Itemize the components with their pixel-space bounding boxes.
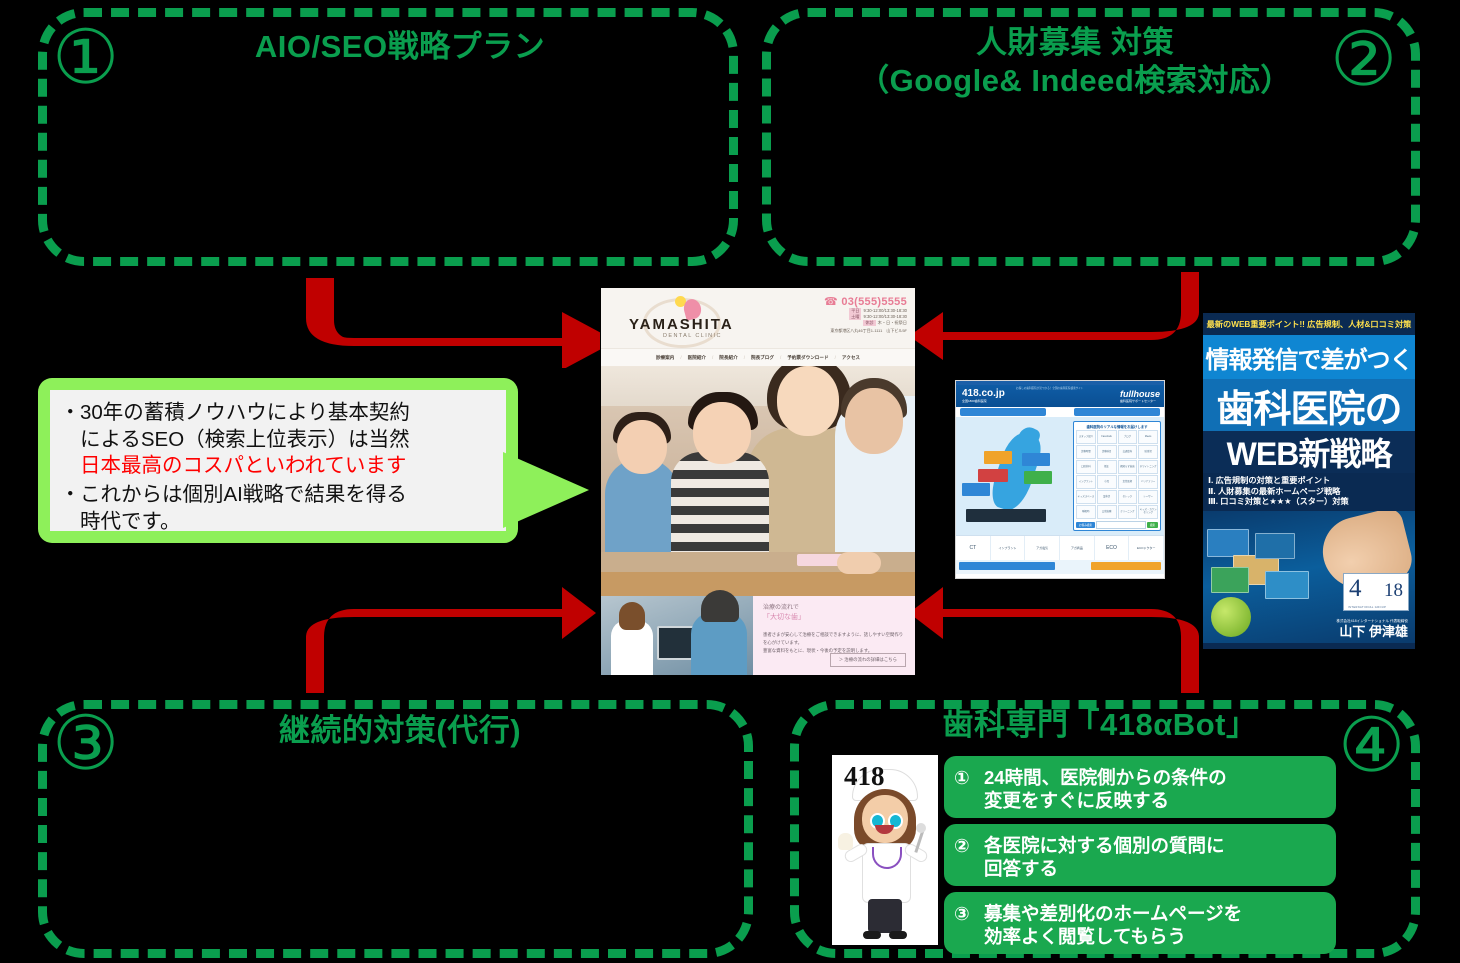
pink-panel-body: 患者さまが安心して治療をご相談できますように、話しやすい空間作りを心がけています… xyxy=(763,631,907,656)
callout-bubble: 30年の蓄積ノウハウにより基本契約 によるSEO（検索上位表示）は当然 日本最高… xyxy=(38,378,518,543)
clinic-hero-photo xyxy=(601,366,915,552)
category-cell[interactable]: セレック xyxy=(1118,490,1138,504)
book-title-line-1: 情報発信で差がつく xyxy=(1203,335,1415,379)
category-cell[interactable]: 口腔外科 xyxy=(1076,460,1096,474)
map-chip-4[interactable] xyxy=(1024,471,1052,484)
shoe-right-icon xyxy=(889,931,907,939)
clinic-nav-item-0[interactable]: 診療案内 xyxy=(656,355,674,361)
map-chip-6[interactable] xyxy=(966,509,1046,522)
banner-item[interactable]: CT xyxy=(956,536,991,560)
category-cell[interactable]: インプラント xyxy=(1076,475,1096,489)
panel-4-number: ④ xyxy=(1338,708,1405,783)
nav-sep: / xyxy=(835,355,836,360)
hero-child-2-figure xyxy=(671,452,769,552)
bot-feature-2-number: ② xyxy=(954,834,984,876)
nav-sep: / xyxy=(680,355,681,360)
logo-digit-18: 18 xyxy=(1384,580,1403,602)
category-cell[interactable]: クリーニング xyxy=(1118,505,1138,519)
book-418-logo: 4 18 INTERNATIONAL GROUP xyxy=(1343,573,1409,611)
site-418-tab-right[interactable] xyxy=(1074,408,1160,416)
hero-child-1-figure xyxy=(605,458,679,552)
book-cover-image: 4 18 INTERNATIONAL GROUP 株式会社418インターナショナ… xyxy=(1203,511,1415,643)
clinic-midsection-photo xyxy=(601,552,915,596)
nav-sep: / xyxy=(712,355,713,360)
site-418-banner-strip[interactable]: CT インプラント アガ電気 アガ商品 ECO ECOドクター xyxy=(956,535,1164,560)
banner-item[interactable]: インプラント xyxy=(991,536,1026,560)
callout-bubble-inner: 30年の蓄積ノウハウにより基本契約 によるSEO（検索上位表示）は当然 日本最高… xyxy=(50,390,506,531)
category-cell[interactable]: キッズスペース xyxy=(1076,490,1096,504)
search-input[interactable] xyxy=(1096,521,1146,529)
tooth-icon xyxy=(838,833,853,850)
nav-sep: / xyxy=(780,355,781,360)
japan-map-icon[interactable] xyxy=(960,421,1068,531)
footer-left-banner[interactable] xyxy=(959,562,1055,570)
bot-feature-1[interactable]: ① 24時間、医院側からの条件の 変更をすぐに反映する xyxy=(944,756,1336,818)
arrow-top-left-icon xyxy=(300,278,600,373)
book-points: Ⅰ. 広告規制の対策と重要ポイント Ⅱ. 人財募集の最新ホームページ戦略 Ⅲ. … xyxy=(1203,473,1415,511)
clinic-nav[interactable]: 診療案内/ 医院紹介/ 院長紹介/ 院長ブログ/ 予約票ダウンロード/ アクセス xyxy=(601,348,915,366)
map-chip-1[interactable] xyxy=(984,451,1012,464)
category-cell[interactable]: 診療科目 xyxy=(1097,445,1117,459)
hand-shape xyxy=(837,552,881,574)
banner-item[interactable]: アガ電気 xyxy=(1025,536,1060,560)
pink-panel-title-1: 治療の流れで xyxy=(763,604,907,613)
site-418-category-grid[interactable]: スタッフ紹介 Facebook ブログ Meets 診療時間 診療科目 交通案内… xyxy=(1076,430,1158,519)
footer-right-banner[interactable] xyxy=(1091,562,1161,570)
category-cell[interactable]: 交通案内 xyxy=(1118,445,1138,459)
clinic-address: 東京都港区八丸46丁目1-1111 山下ビル5F xyxy=(824,328,907,334)
clinic-nav-item-3[interactable]: 院長ブログ xyxy=(751,355,774,361)
clinic-logo: YAMASHITA DENTAL CLINIC xyxy=(629,296,745,344)
book-point-1: Ⅰ. 広告規制の対策と重要ポイント xyxy=(1208,476,1410,487)
consultation-photo xyxy=(601,596,753,675)
pink-panel-title-2: 「大切な歯」 xyxy=(763,613,907,624)
clinic-nav-item-1[interactable]: 医院紹介 xyxy=(688,355,706,361)
clinic-pink-panel: 治療の流れで 「大切な歯」 患者さまが安心して治療をご相談できますように、話しや… xyxy=(753,596,915,675)
category-cell[interactable]: 小児 xyxy=(1097,475,1117,489)
bot-feature-1-number: ① xyxy=(954,766,984,808)
legs-shape xyxy=(868,899,902,933)
bot-feature-1-text: 24時間、医院側からの条件の 変更をすぐに反映する xyxy=(984,766,1324,808)
callout-bubble-tail xyxy=(503,452,589,528)
bot-character-image: 418 xyxy=(832,755,938,945)
book-banner: 最新のWEB重要ポイント!! 広告規制、人材&口コミ対策 xyxy=(1203,313,1415,335)
clinic-contact-block: ☎ 03(555)5555 平日9:30-12:00/13:30-18:30 土… xyxy=(824,295,907,334)
category-cell[interactable]: 診療時間 xyxy=(1076,445,1096,459)
site-418-panel-title: 歯科医院のリアルな情報をお届けします xyxy=(1076,424,1158,429)
book-point-2: Ⅱ. 人財募集の最新ホームページ戦略 xyxy=(1208,487,1410,498)
clinic-header: YAMASHITA DENTAL CLINIC ☎ 03(555)5555 平日… xyxy=(601,288,915,348)
book-title-line-2: 歯科医院の xyxy=(1203,379,1415,431)
site-418-brand-sub: 全国1800歯科医院 xyxy=(962,399,1005,403)
category-cell[interactable]: 女性医師 xyxy=(1118,475,1138,489)
panel-3-title: 継続的対策(代行) xyxy=(160,712,640,750)
callout-b1-line1: 30年の蓄積ノウハウにより基本契約 xyxy=(80,401,410,424)
apple-icon xyxy=(1211,597,1251,637)
shoe-left-icon xyxy=(863,931,881,939)
site-418-brand: 418.co.jp 全国1800歯科医院 xyxy=(962,388,1005,403)
category-cell[interactable]: 矯正 xyxy=(1097,460,1117,474)
map-chip-5[interactable] xyxy=(962,483,990,496)
category-cell[interactable]: レーザー xyxy=(1138,490,1158,504)
book-author: 山下 伊津雄 xyxy=(1339,621,1408,640)
site-418-body: 歯科医院のリアルな情報をお届けします スタッフ紹介 Facebook ブログ M… xyxy=(956,417,1164,535)
site-418-tabs[interactable] xyxy=(956,407,1164,417)
panel-3-number: ③ xyxy=(52,706,119,781)
clinic-hours-row-3: 休診木・日・祝祭日 xyxy=(824,320,907,326)
category-cell[interactable]: スタッフ紹介 xyxy=(1076,430,1096,444)
clinic-bottom-section: 治療の流れで 「大切な歯」 患者さまが安心して治療をご相談できますように、話しや… xyxy=(601,596,915,675)
site-418-partner-sub: 歯科医院サポートセンター xyxy=(1120,399,1160,403)
category-cell[interactable]: Facebook xyxy=(1097,430,1117,444)
logo-digit-4: 4 xyxy=(1349,575,1362,603)
callout-b2-line2: 時代です。 xyxy=(80,510,180,533)
panel-1-number: ① xyxy=(52,20,119,95)
clinic-logo-name: YAMASHITA xyxy=(629,316,734,333)
callout-b1-line3-highlight: 日本最高のコスパといわれています xyxy=(80,454,406,477)
callout-b2-line1: これからは個別AI戦略で結果を得る xyxy=(80,483,407,506)
patient-figure xyxy=(691,612,747,675)
site-418-partner: fullhouse 歯科医院サポートセンター xyxy=(1120,389,1160,403)
site-418-header: お探しの歯科医院が見つかる！全国の歯科医院検索サイト 418.co.jp 全国1… xyxy=(956,385,1164,407)
category-cell[interactable]: ブログ xyxy=(1118,430,1138,444)
panel-2-title: 人財募集 対策 （Google& Indeed検索対応） xyxy=(810,24,1340,100)
callout-bullet-2: これからは個別AI戦略で結果を得る 時代です。 xyxy=(80,482,496,535)
map-chip-3[interactable] xyxy=(978,469,1008,482)
clinic-website-screenshot[interactable]: YAMASHITA DENTAL CLINIC ☎ 03(555)5555 平日… xyxy=(601,288,915,675)
bot-feature-2-text: 各医院に対する個別の質問に 回答する xyxy=(984,834,1324,876)
site-418-tagline: お探しの歯科医院が見つかる！全国の歯科医院検索サイト xyxy=(1016,386,1083,390)
phone-icon: ☎ xyxy=(824,296,838,308)
screen-tile xyxy=(1255,533,1295,559)
hero-dentist-figure xyxy=(835,396,915,552)
category-cell[interactable]: キッズ・カウンセリング xyxy=(1138,505,1158,519)
category-cell[interactable]: 親知らず抜歯 xyxy=(1118,460,1138,474)
clinic-nav-item-5[interactable]: アクセス xyxy=(842,355,860,361)
site-418-tab-left[interactable] xyxy=(960,408,1046,416)
arrow-bottom-right-icon xyxy=(905,565,1205,700)
category-cell[interactable]: 駐車場 xyxy=(1138,445,1158,459)
pink-panel-button[interactable]: ＞ 治療の流れの詳細はこちら xyxy=(830,653,906,667)
panel-4-title: 歯科専門「418αBot」 xyxy=(880,706,1320,744)
bot-feature-3[interactable]: ③ 募集や差別化のホームページを 効率よく閲覧してもらう xyxy=(944,892,1336,954)
category-cell[interactable]: バリアフリー xyxy=(1138,475,1158,489)
callout-bullet-1: 30年の蓄積ノウハウにより基本契約 によるSEO（検索上位表示）は当然 日本最高… xyxy=(80,400,496,480)
banner-item[interactable]: アガ商品 xyxy=(1060,536,1095,560)
clinic-nav-item-4[interactable]: 予約票ダウンロード xyxy=(787,355,828,361)
banner-item[interactable]: ECOドクター xyxy=(1129,536,1164,560)
hygienist-figure xyxy=(611,620,653,675)
bot-feature-2[interactable]: ② 各医院に対する個別の質問に 回答する xyxy=(944,824,1336,886)
bot-character-label: 418 xyxy=(844,761,885,792)
screen-tile xyxy=(1207,529,1249,557)
arrow-top-right-icon xyxy=(905,272,1205,377)
dental-mirror-head-icon xyxy=(916,823,926,833)
book-point-3: Ⅲ. 口コミ対策と★★★（スター）対策 xyxy=(1208,497,1410,508)
category-cell[interactable]: 睡眠時 xyxy=(1076,505,1096,519)
site-418-footer xyxy=(956,560,1164,574)
category-cell[interactable]: Meets xyxy=(1138,430,1158,444)
clinic-phone: ☎ 03(555)5555 xyxy=(824,295,907,308)
screen-tile xyxy=(1265,571,1309,599)
site-418-search-row[interactable]: お悩み検索 検索 xyxy=(1076,521,1158,529)
logo-caption: INTERNATIONAL GROUP xyxy=(1348,606,1386,609)
callout-bullet-list: 30年の蓄積ノウハウにより基本契約 によるSEO（検索上位表示）は当然 日本最高… xyxy=(50,390,506,535)
banner-item[interactable]: ECO xyxy=(1095,536,1130,560)
search-label: お悩み検索 xyxy=(1076,522,1095,528)
arrow-bottom-left-icon xyxy=(300,565,600,700)
panel-2-number: ② xyxy=(1330,22,1397,97)
category-cell[interactable]: ホワイトニング xyxy=(1138,460,1158,474)
category-cell[interactable]: 口臭治療 xyxy=(1097,505,1117,519)
book-title-line-3: WEB新戦略 xyxy=(1203,431,1415,473)
screen-tile xyxy=(1211,567,1249,593)
nav-sep: / xyxy=(744,355,745,360)
site-418-category-panel: 歯科医院のリアルな情報をお届けします スタッフ紹介 Facebook ブログ M… xyxy=(1073,421,1161,531)
clinic-logo-sub: DENTAL CLINIC xyxy=(663,333,722,339)
category-cell[interactable]: 톨休診 xyxy=(1097,490,1117,504)
callout-b1-line2: によるSEO（検索上位表示）は当然 xyxy=(80,428,410,451)
site-418-screenshot[interactable]: お探しの歯科医院が見つかる！全国の歯科医院検索サイト 418.co.jp 全国1… xyxy=(955,380,1165,579)
panel-1-title: AIO/SEO戦略プラン xyxy=(150,28,650,66)
clinic-nav-item-2[interactable]: 院長紹介 xyxy=(719,355,737,361)
search-button[interactable]: 検索 xyxy=(1147,522,1158,528)
desk-shape xyxy=(601,572,915,596)
bot-feature-3-number: ③ xyxy=(954,902,984,944)
book-cover: 最新のWEB重要ポイント!! 広告規制、人材&口コミ対策 情報発信で差がつく 歯… xyxy=(1203,313,1415,649)
map-chip-2[interactable] xyxy=(1022,453,1050,466)
bot-feature-3-text: 募集や差別化のホームページを 効率よく閲覧してもらう xyxy=(984,902,1324,944)
